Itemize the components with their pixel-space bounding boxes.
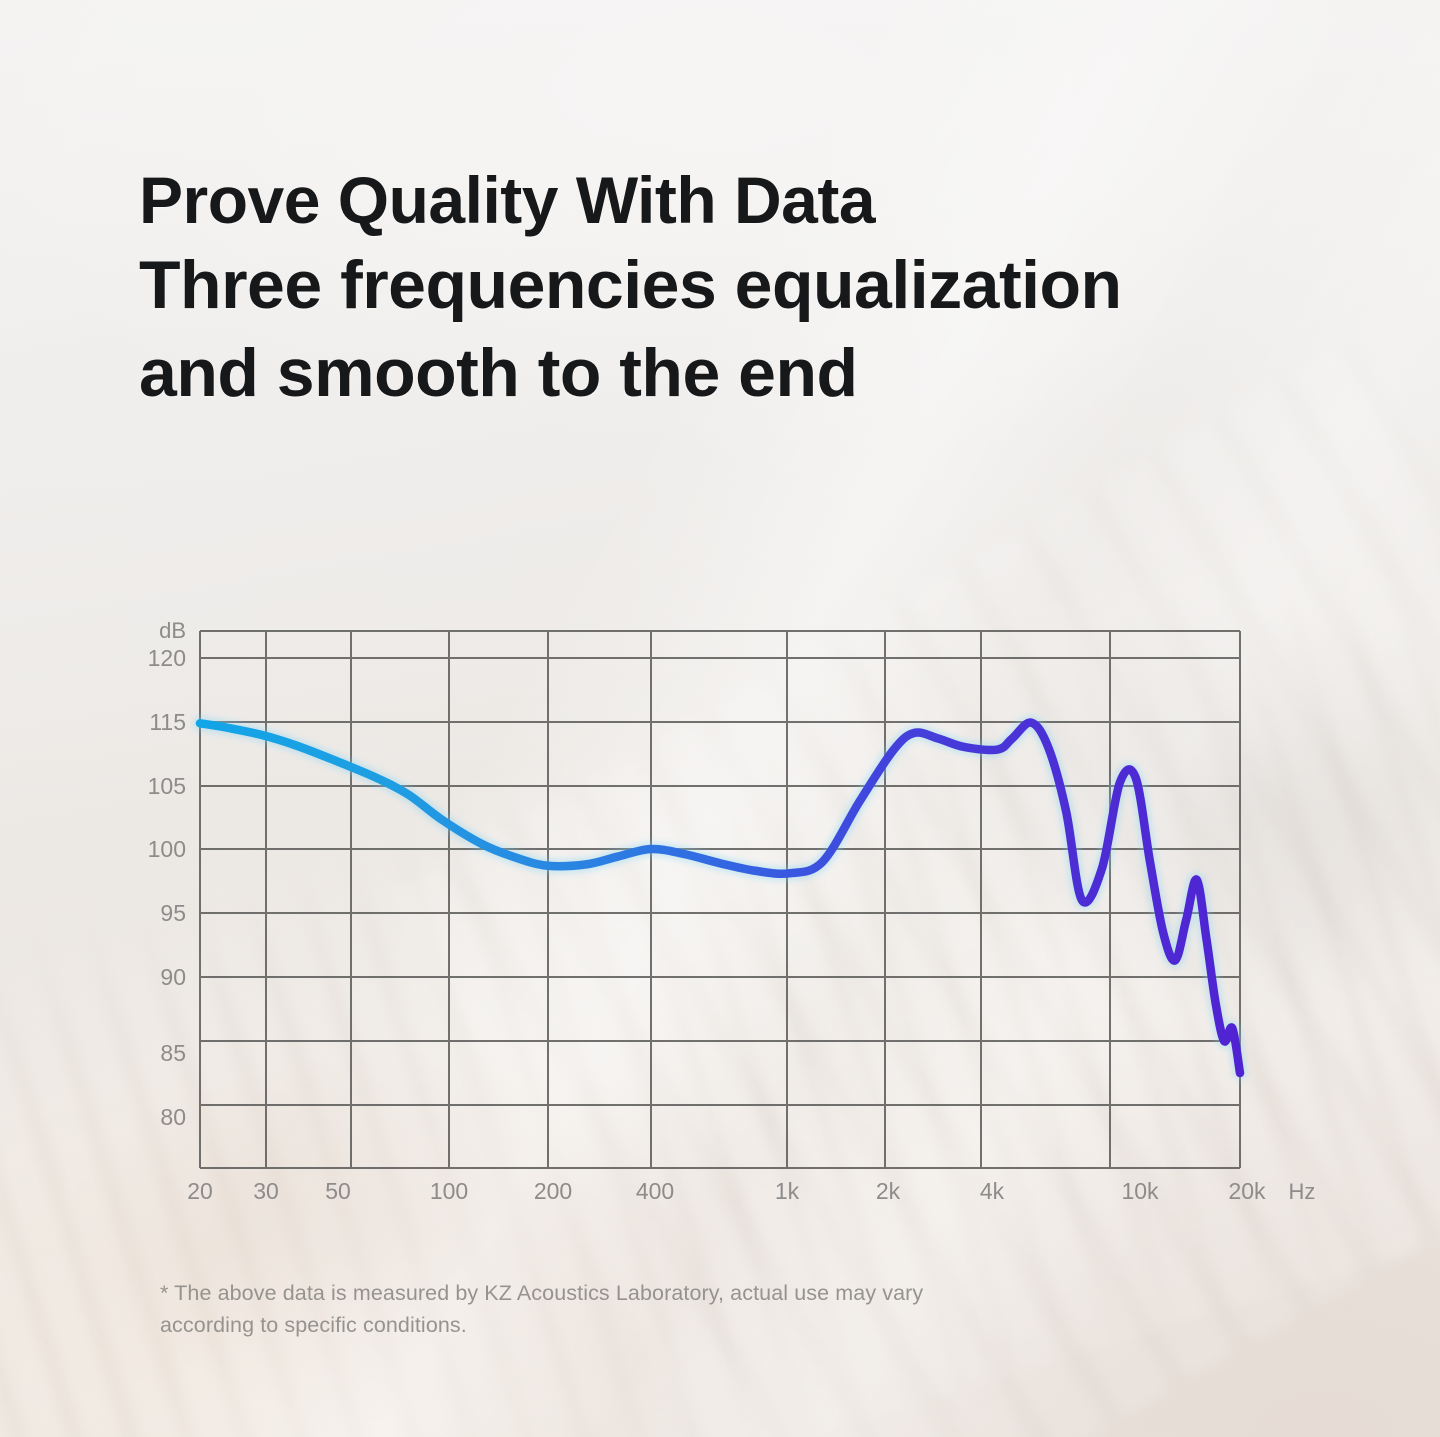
y-tick-80: 80 [160, 1104, 186, 1130]
x-tick-400: 400 [636, 1178, 674, 1204]
x-tick-200: 200 [534, 1178, 572, 1204]
footnote-line-2: according to specific conditions. [160, 1310, 1140, 1342]
footnote-line-1: * The above data is measured by KZ Acous… [160, 1278, 1140, 1310]
x-tick-100: 100 [430, 1178, 468, 1204]
x-tick-10k: 10k [1121, 1178, 1159, 1204]
x-tick-20k: 20k [1228, 1178, 1266, 1204]
x-axis-tick-labels: 20 30 50 100 200 400 1k 2k 4k 10k 20k Hz [187, 1178, 1315, 1204]
x-tick-4k: 4k [980, 1178, 1005, 1204]
x-tick-20: 20 [187, 1178, 213, 1204]
y-tick-95: 95 [160, 900, 186, 926]
y-axis-tick-labels: dB 120 115 105 100 95 90 85 80 [148, 618, 186, 1130]
chart-footnote: * The above data is measured by KZ Acous… [160, 1278, 1140, 1342]
x-tick-2k: 2k [876, 1178, 901, 1204]
y-tick-105: 105 [148, 773, 186, 799]
frequency-response-chart: dB 120 115 105 100 95 90 85 80 20 30 50 … [0, 0, 1440, 1437]
y-axis-unit-label: dB [159, 618, 186, 643]
chart-svg: dB 120 115 105 100 95 90 85 80 20 30 50 … [0, 0, 1440, 1437]
y-tick-120: 120 [148, 645, 186, 671]
x-tick-1k: 1k [775, 1178, 800, 1204]
y-tick-90: 90 [160, 964, 186, 990]
x-tick-30: 30 [253, 1178, 279, 1204]
response-curve-group [200, 723, 1240, 1073]
x-axis-unit-label: Hz [1289, 1179, 1316, 1204]
x-tick-50: 50 [325, 1178, 351, 1204]
y-tick-115: 115 [149, 709, 186, 735]
promo-page: Prove Quality With Data Three frequencie… [0, 0, 1440, 1437]
y-tick-85: 85 [160, 1040, 186, 1066]
y-tick-100: 100 [148, 836, 186, 862]
